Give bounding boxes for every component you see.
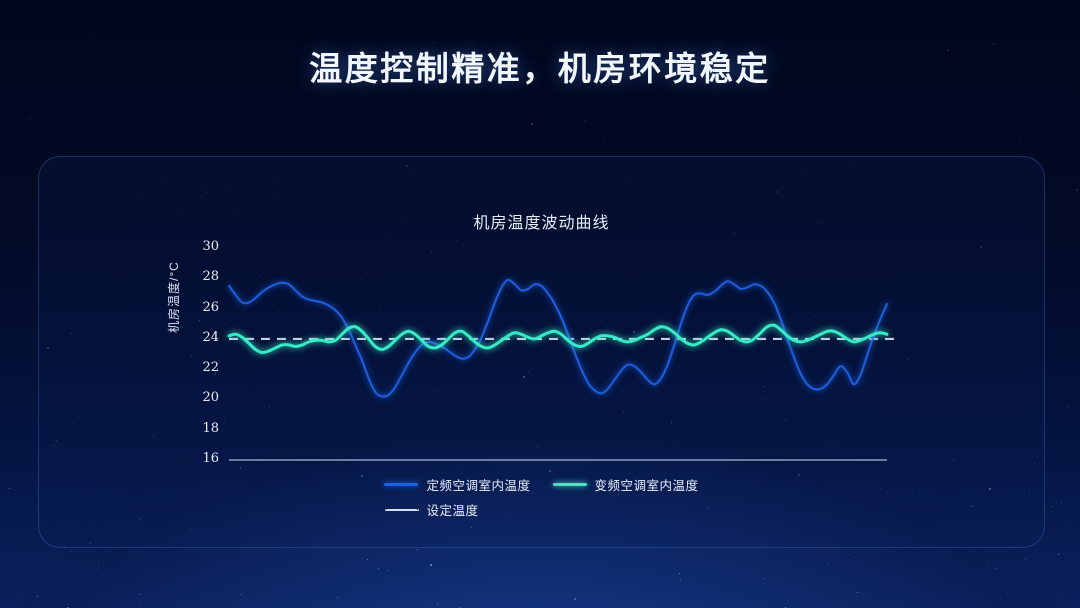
legend-row-primary: 定频空调室内温度 变频空调室内温度	[384, 475, 698, 494]
legend-swatch-setpoint	[385, 509, 419, 511]
legend-swatch-fixed-frequency	[384, 483, 418, 486]
legend-item-setpoint[interactable]: 设定温度	[385, 500, 479, 519]
chart-legend: 定频空调室内温度 变频空调室内温度 设定温度	[39, 475, 1044, 519]
legend-label-setpoint: 设定温度	[427, 500, 479, 519]
page-title: 温度控制精准，机房环境稳定	[0, 42, 1080, 90]
legend-label-fixed-frequency: 定频空调室内温度	[426, 475, 530, 494]
legend-item-fixed-frequency[interactable]: 定频空调室内温度	[384, 475, 530, 494]
temperature-chart: 机房温度波动曲线 机房温度/°C 3028262422201816 定频空调室内…	[39, 157, 1044, 547]
legend-item-variable-frequency[interactable]: 变频空调室内温度	[553, 475, 699, 494]
chart-card: 机房温度波动曲线 机房温度/°C 3028262422201816 定频空调室内…	[38, 156, 1045, 548]
legend-row-secondary: 设定温度	[377, 500, 707, 519]
legend-label-variable-frequency: 变频空调室内温度	[595, 475, 699, 494]
legend-swatch-variable-frequency	[553, 483, 587, 486]
